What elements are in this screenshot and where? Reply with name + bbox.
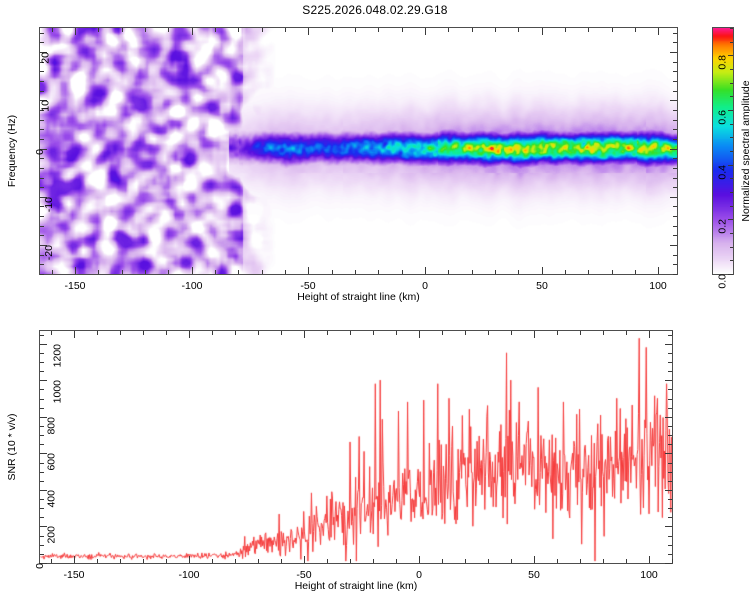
axis-tick <box>425 28 426 35</box>
axis-tick <box>120 559 121 563</box>
axis-tick <box>668 426 672 427</box>
axis-tick <box>215 270 216 274</box>
axis-tick <box>51 559 52 563</box>
axis-tick <box>603 331 604 335</box>
axis-tick <box>730 124 733 125</box>
axis-tick <box>730 178 733 179</box>
axis-tick <box>673 206 677 207</box>
axis-tick <box>668 353 672 354</box>
axis-tick <box>215 28 216 32</box>
x-tick-label: 50 <box>536 280 548 292</box>
axis-tick <box>396 559 397 563</box>
axis-tick <box>730 69 733 70</box>
axis-tick <box>40 226 44 227</box>
axis-tick <box>40 481 44 482</box>
axis-tick <box>518 28 519 32</box>
axis-tick <box>665 453 672 454</box>
axis-tick <box>670 149 677 150</box>
axis-tick <box>673 120 677 121</box>
axis-tick <box>212 331 213 335</box>
axis-tick <box>673 33 677 34</box>
colorbar-tick-label: 0.4 <box>717 165 729 180</box>
axis-tick <box>448 270 449 274</box>
axis-tick <box>673 71 677 72</box>
axis-tick <box>673 178 677 179</box>
axis-tick <box>40 71 44 72</box>
axis-tick <box>262 270 263 274</box>
axis-tick <box>730 137 733 138</box>
axis-tick <box>40 139 44 140</box>
axis-tick <box>304 331 305 338</box>
axis-tick <box>603 559 604 563</box>
axis-tick <box>143 559 144 563</box>
axis-tick <box>668 472 672 473</box>
axis-tick <box>281 559 282 563</box>
axis-tick <box>488 331 489 335</box>
y-tick-label: 600 <box>46 453 58 471</box>
axis-tick <box>730 206 733 207</box>
x-tick-label: -150 <box>63 569 84 581</box>
axis-tick <box>143 331 144 335</box>
axis-tick <box>168 28 169 32</box>
axis-tick <box>728 55 733 56</box>
axis-tick <box>668 371 672 372</box>
spectrogram-x-axis-label: Height of straight line (km) <box>297 291 420 303</box>
axis-tick <box>258 331 259 335</box>
axis-tick <box>378 28 379 32</box>
axis-tick <box>728 274 733 275</box>
axis-tick <box>673 81 677 82</box>
colorbar-tick-label: 0.8 <box>717 55 729 70</box>
axis-tick <box>168 270 169 274</box>
axis-tick <box>51 331 52 335</box>
axis-tick <box>673 187 677 188</box>
axis-tick <box>730 28 733 29</box>
axis-tick <box>668 389 672 390</box>
axis-tick <box>495 270 496 274</box>
axis-tick <box>145 270 146 274</box>
axis-tick <box>40 187 44 188</box>
axis-tick <box>308 267 309 274</box>
axis-tick <box>626 331 627 335</box>
axis-tick <box>518 270 519 274</box>
axis-tick <box>308 28 309 35</box>
axis-tick <box>670 245 677 246</box>
axis-tick <box>534 556 535 563</box>
y-tick-label: -10 <box>43 197 55 212</box>
axis-tick <box>304 556 305 563</box>
x-tick-label: -100 <box>178 569 199 581</box>
axis-tick <box>122 28 123 32</box>
axis-tick <box>442 331 443 335</box>
spectrogram-image <box>40 28 677 274</box>
axis-tick <box>730 233 733 234</box>
axis-tick <box>40 545 44 546</box>
axis-tick <box>373 331 374 335</box>
axis-tick <box>285 28 286 32</box>
axis-tick <box>635 270 636 274</box>
axis-tick <box>40 335 44 336</box>
axis-tick <box>495 28 496 32</box>
axis-tick <box>52 270 53 274</box>
axis-tick <box>665 563 672 564</box>
axis-tick <box>122 270 123 274</box>
axis-tick <box>40 499 44 500</box>
colorbar-label: Normalized spectral amplitude <box>740 80 750 221</box>
x-tick-label: -100 <box>181 280 202 292</box>
axis-tick <box>488 559 489 563</box>
x-tick-label: 50 <box>528 569 540 581</box>
axis-tick <box>402 270 403 274</box>
x-tick-label: 0 <box>422 280 428 292</box>
axis-tick <box>40 235 44 236</box>
axis-tick <box>281 331 282 335</box>
axis-tick <box>557 331 558 335</box>
axis-tick <box>419 331 420 338</box>
axis-tick <box>730 83 733 84</box>
axis-tick <box>673 235 677 236</box>
axis-tick <box>40 353 44 354</box>
axis-tick <box>442 559 443 563</box>
axis-tick <box>355 28 356 32</box>
axis-tick <box>98 28 99 32</box>
axis-tick <box>378 270 379 274</box>
axis-tick <box>668 536 672 537</box>
axis-tick <box>262 28 263 32</box>
spectrogram-y-axis-label: Frequency (Hz) <box>6 115 18 187</box>
axis-tick <box>327 559 328 563</box>
y-tick-label: 800 <box>46 417 58 435</box>
axis-tick <box>258 559 259 563</box>
axis-tick <box>40 129 44 130</box>
snr-x-axis-label: Height of straight line (km) <box>295 580 418 592</box>
figure-canvas: S225.2026.048.02.29.G18 -150-100-5005010… <box>0 0 750 600</box>
axis-tick <box>670 197 677 198</box>
axis-tick <box>673 168 677 169</box>
axis-tick <box>465 331 466 335</box>
axis-tick <box>668 499 672 500</box>
axis-tick <box>673 91 677 92</box>
axis-tick <box>350 331 351 335</box>
axis-tick <box>40 508 44 509</box>
axis-tick <box>730 247 733 248</box>
axis-tick <box>40 444 44 445</box>
axis-tick <box>40 158 44 159</box>
colorbar-tick-label: 0.2 <box>717 219 729 234</box>
axis-tick <box>235 331 236 335</box>
x-tick-label: 100 <box>640 569 658 581</box>
y-tick-label: 20 <box>40 52 52 64</box>
y-tick-label: 1000 <box>51 380 63 403</box>
axis-tick <box>673 62 677 63</box>
axis-tick <box>402 28 403 32</box>
axis-tick <box>40 426 44 427</box>
axis-tick <box>668 399 672 400</box>
snr-line-plot <box>40 331 672 563</box>
colorbar-tick-label: 0.6 <box>717 110 729 125</box>
axis-tick <box>74 556 75 563</box>
axis-tick <box>40 536 44 537</box>
axis-tick <box>327 331 328 335</box>
axis-tick <box>52 28 53 32</box>
axis-tick <box>730 151 733 152</box>
axis-tick <box>40 178 44 179</box>
axis-tick <box>668 408 672 409</box>
snr-y-axis-label: SNR (10 * v/v) <box>6 413 18 480</box>
x-tick-label: -150 <box>64 280 85 292</box>
axis-tick <box>673 110 677 111</box>
axis-tick <box>668 463 672 464</box>
axis-tick <box>40 344 47 345</box>
axis-tick <box>40 371 44 372</box>
axis-tick <box>40 216 44 217</box>
y-tick-label: 0 <box>34 149 46 155</box>
axis-tick <box>672 559 673 563</box>
axis-tick <box>332 270 333 274</box>
axis-tick <box>40 168 44 169</box>
axis-tick <box>40 81 44 82</box>
axis-tick <box>97 331 98 335</box>
axis-tick <box>542 267 543 274</box>
axis-tick <box>668 435 672 436</box>
axis-tick <box>212 559 213 563</box>
axis-tick <box>511 559 512 563</box>
axis-tick <box>580 559 581 563</box>
axis-tick <box>673 264 677 265</box>
axis-tick <box>668 481 672 482</box>
axis-tick <box>40 274 44 275</box>
y-tick-label: 200 <box>46 526 58 544</box>
snr-panel <box>39 330 673 564</box>
axis-tick <box>668 362 672 363</box>
axis-tick <box>40 435 44 436</box>
axis-tick <box>730 96 733 97</box>
axis-tick <box>40 517 44 518</box>
y-tick-label: 1200 <box>51 344 63 367</box>
axis-tick <box>472 270 473 274</box>
axis-tick <box>670 52 677 53</box>
axis-tick <box>565 270 566 274</box>
axis-tick <box>668 517 672 518</box>
axis-tick <box>75 267 76 274</box>
axis-tick <box>635 28 636 32</box>
axis-tick <box>728 165 733 166</box>
axis-tick <box>40 42 44 43</box>
axis-tick <box>612 270 613 274</box>
axis-tick <box>673 158 677 159</box>
axis-tick <box>355 270 356 274</box>
x-tick-label: 100 <box>649 280 667 292</box>
spectrogram-panel <box>39 27 678 275</box>
axis-tick <box>658 28 659 35</box>
axis-tick <box>40 389 44 390</box>
axis-tick <box>668 554 672 555</box>
axis-tick <box>665 526 672 527</box>
axis-tick <box>40 362 44 363</box>
axis-tick <box>557 559 558 563</box>
axis-tick <box>192 28 193 35</box>
axis-tick <box>166 331 167 335</box>
axis-tick <box>730 192 733 193</box>
axis-tick <box>40 463 44 464</box>
axis-tick <box>668 335 672 336</box>
axis-tick <box>40 399 44 400</box>
axis-tick <box>40 120 44 121</box>
axis-tick <box>565 28 566 32</box>
axis-tick <box>238 270 239 274</box>
axis-tick <box>665 417 672 418</box>
y-tick-label: 0 <box>34 563 46 569</box>
axis-tick <box>673 216 677 217</box>
axis-tick <box>465 559 466 563</box>
axis-tick <box>542 28 543 35</box>
axis-tick <box>40 554 44 555</box>
axis-tick <box>40 380 47 381</box>
axis-tick <box>728 219 733 220</box>
axis-tick <box>189 556 190 563</box>
axis-tick <box>673 226 677 227</box>
axis-tick <box>425 267 426 274</box>
axis-tick <box>350 559 351 563</box>
axis-tick <box>75 28 76 35</box>
axis-tick <box>472 28 473 32</box>
axis-tick <box>396 331 397 335</box>
axis-tick <box>166 559 167 563</box>
axis-tick <box>668 444 672 445</box>
axis-tick <box>235 559 236 563</box>
axis-tick <box>665 490 672 491</box>
axis-tick <box>332 28 333 32</box>
axis-tick <box>673 42 677 43</box>
axis-tick <box>192 267 193 274</box>
axis-tick <box>649 556 650 563</box>
axis-tick <box>189 331 190 338</box>
y-tick-label: 10 <box>40 100 52 112</box>
axis-tick <box>730 260 733 261</box>
axis-tick <box>673 255 677 256</box>
axis-tick <box>448 28 449 32</box>
axis-tick <box>40 408 44 409</box>
axis-tick <box>665 380 672 381</box>
axis-tick <box>626 559 627 563</box>
axis-tick <box>40 472 44 473</box>
axis-tick <box>728 110 733 111</box>
axis-tick <box>612 28 613 32</box>
y-tick-label: 400 <box>46 490 58 508</box>
axis-tick <box>668 545 672 546</box>
axis-tick <box>649 331 650 338</box>
axis-tick <box>673 129 677 130</box>
colorbar-tick-label: 0.0 <box>717 274 729 289</box>
axis-tick <box>419 556 420 563</box>
axis-tick <box>238 28 239 32</box>
axis-tick <box>120 331 121 335</box>
axis-tick <box>285 270 286 274</box>
axis-tick <box>40 91 44 92</box>
y-tick-label: -20 <box>43 245 55 260</box>
axis-tick <box>730 42 733 43</box>
axis-tick <box>145 28 146 32</box>
figure-title: S225.2026.048.02.29.G18 <box>0 3 750 17</box>
axis-tick <box>534 331 535 338</box>
axis-tick <box>98 270 99 274</box>
axis-tick <box>670 100 677 101</box>
axis-tick <box>373 559 374 563</box>
axis-tick <box>40 33 44 34</box>
axis-tick <box>672 331 673 335</box>
axis-tick <box>580 331 581 335</box>
axis-tick <box>668 508 672 509</box>
axis-tick <box>665 344 672 345</box>
axis-tick <box>673 274 677 275</box>
axis-tick <box>673 139 677 140</box>
axis-tick <box>588 270 589 274</box>
axis-tick <box>511 331 512 335</box>
axis-tick <box>658 267 659 274</box>
axis-tick <box>74 331 75 338</box>
axis-tick <box>97 559 98 563</box>
axis-tick <box>588 28 589 32</box>
axis-tick <box>40 264 44 265</box>
